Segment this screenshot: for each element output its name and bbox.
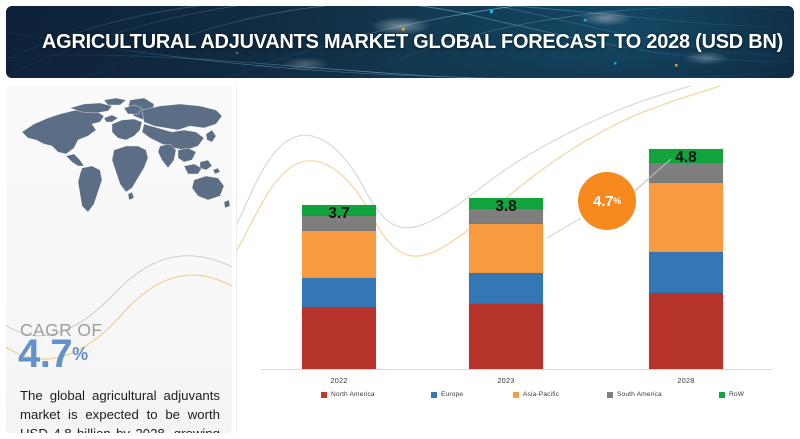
infographic-page: AGRICULTURAL ADJUVANTS MARKET GLOBAL FOR… — [0, 0, 800, 439]
bar-segment-north-america — [469, 304, 543, 369]
cagr-value: 4.7% — [18, 334, 88, 374]
legend-swatch-icon — [607, 392, 613, 398]
legend-label: Asia-Pacific — [523, 391, 559, 398]
x-axis-tick-label: 2022 — [294, 376, 384, 385]
legend-label: RoW — [729, 391, 744, 398]
cagr-number: 4.7 — [18, 332, 72, 376]
x-axis-line — [261, 369, 773, 370]
chart-panel: 3.7 2022 3.8 2023 4.8 2028 — [236, 86, 794, 433]
x-axis-tick-label: 2028 — [641, 376, 731, 385]
bar-segment-asia-pacific — [649, 183, 723, 252]
bar-total-label: 3.7 — [294, 205, 384, 223]
bar-total-label: 4.8 — [641, 149, 731, 167]
bar-segment-europe — [649, 252, 723, 293]
legend-swatch-icon — [321, 392, 327, 398]
bar-segment-europe — [469, 273, 543, 304]
chart-legend: North America Europe Asia-Pacific South … — [321, 391, 791, 405]
bar-total-label: 3.8 — [461, 198, 551, 216]
legend-item-asia-pacific[interactable]: Asia-Pacific — [513, 391, 559, 398]
bar-segment-europe — [302, 278, 376, 307]
legend-swatch-icon — [513, 392, 519, 398]
legend-label: South America — [617, 391, 662, 398]
panel-description: The global agricultural adjuvants market… — [20, 386, 220, 433]
cagr-percent-sign: % — [72, 344, 88, 364]
table-row[interactable] — [302, 205, 376, 369]
legend-swatch-icon — [431, 392, 437, 398]
legend-item-south-america[interactable]: South America — [607, 391, 662, 398]
table-row[interactable] — [649, 149, 723, 369]
bar-segment-asia-pacific — [302, 231, 376, 278]
cagr-bubble-unit: % — [613, 196, 621, 206]
left-info-panel: CAGR OF 4.7% The global agricultural adj… — [6, 86, 232, 433]
page-title: AGRICULTURAL ADJUVANTS MARKET GLOBAL FOR… — [42, 30, 783, 54]
legend-item-europe[interactable]: Europe — [431, 391, 463, 398]
legend-swatch-icon — [719, 392, 725, 398]
legend-item-north-america[interactable]: North America — [321, 391, 375, 398]
legend-label: North America — [331, 391, 375, 398]
header-banner: AGRICULTURAL ADJUVANTS MARKET GLOBAL FOR… — [6, 6, 794, 78]
legend-label: Europe — [441, 391, 463, 398]
plot-area: 3.7 2022 3.8 2023 4.8 2028 — [237, 86, 795, 433]
bar-segment-asia-pacific — [469, 224, 543, 273]
cagr-bubble-value: 4.7 — [593, 193, 613, 210]
world-map — [8, 94, 232, 220]
cagr-callout-bubble[interactable]: 4.7% — [578, 172, 636, 230]
table-row[interactable] — [469, 198, 543, 369]
x-axis-tick-label: 2023 — [461, 376, 551, 385]
bar-segment-north-america — [302, 307, 376, 369]
legend-item-row[interactable]: RoW — [719, 391, 744, 398]
bar-segment-north-america — [649, 293, 723, 369]
